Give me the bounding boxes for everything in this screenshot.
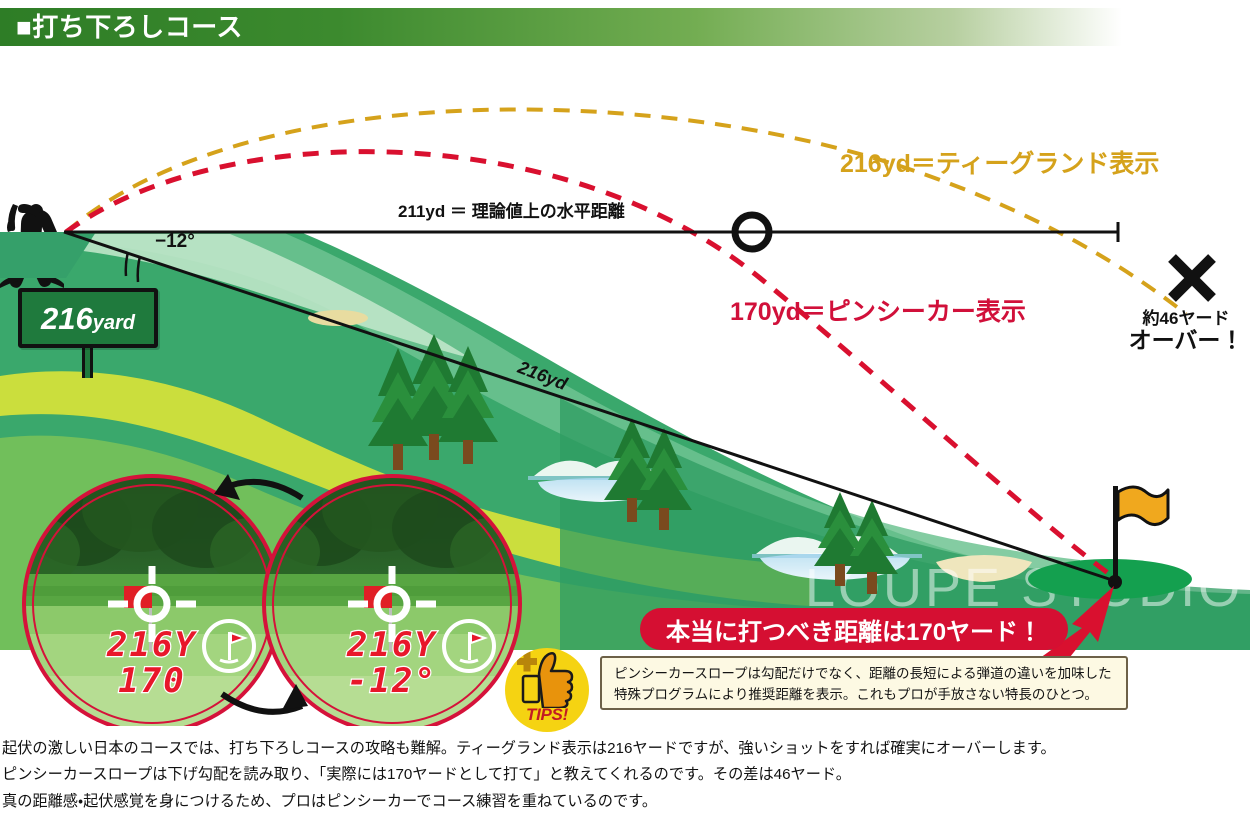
footer-line-2: ピンシーカースロープは下げ勾配を読み取り、「実際には170ヤードとして打て」と教… — [2, 762, 1250, 788]
yardage-sign: 216yard — [18, 288, 158, 348]
tips-badge: TIPS! — [505, 648, 589, 732]
lcd-second-left: 170 — [118, 661, 185, 701]
overshoot-annotation: 約46ヤード オーバー！ — [1122, 310, 1250, 352]
infographic-root: ■打ち下ろしコース — [0, 0, 1250, 821]
lcd-second-right: -12° — [347, 661, 437, 701]
thumbs-up-icon — [515, 650, 577, 708]
pinseeker-reading-label: 170yd＝ピンシーカー表示 — [730, 300, 1026, 325]
lcd-distance-right: 216Y — [346, 625, 437, 665]
slope-angle-label: −12° — [155, 232, 195, 251]
lcd-distance-left: 216Y — [106, 625, 197, 665]
tips-line-2: 特殊プログラムにより推奨距離を表示。これもプロが手放さない特長のひとつ。 — [614, 684, 1118, 705]
page-header: ■打ち下ろしコース — [0, 8, 1122, 46]
footer-line-3: 真の距離感・起伏感覚を身につけるため、プロはピンシーカーでコース練習を重ねている… — [2, 789, 1250, 815]
yardage-sign-post — [82, 348, 93, 378]
tips-box: ピンシーカースロープは勾配だけでなく、距離の長短による弾道の違いを加味した 特殊… — [600, 656, 1128, 710]
overshoot-word: オーバー！ — [1122, 329, 1250, 352]
tips-badge-label: TIPS! — [526, 705, 568, 725]
page-title: ■打ち下ろしコース — [0, 14, 243, 40]
yardage-sign-number: 216 — [41, 301, 93, 336]
overshoot-amount: 約46ヤード — [1122, 310, 1250, 327]
footer-line-1: 起伏の激しい日本のコースでは、打ち下ろしコースの攻略も難解。ティーグランド表示は… — [2, 736, 1250, 762]
footer-description: 起伏の激しい日本のコースでは、打ち下ろしコースの攻略も難解。ティーグランド表示は… — [2, 736, 1250, 815]
tee-ground-reading-label: 216yd＝ティーグランド表示 — [840, 152, 1159, 177]
banner-label: 本当に打つべき距離は170ヤード！ — [666, 612, 1042, 647]
tips-line-1: ピンシーカースロープは勾配だけでなく、距離の長短による弾道の違いを加味した — [614, 663, 1118, 684]
yardage-sign-unit: yard — [93, 312, 135, 334]
horizontal-distance-label: 211yd ＝ 理論値上の水平距離 — [398, 203, 625, 220]
recommended-distance-banner: 本当に打つべき距離は170ヤード！ — [640, 608, 1068, 650]
